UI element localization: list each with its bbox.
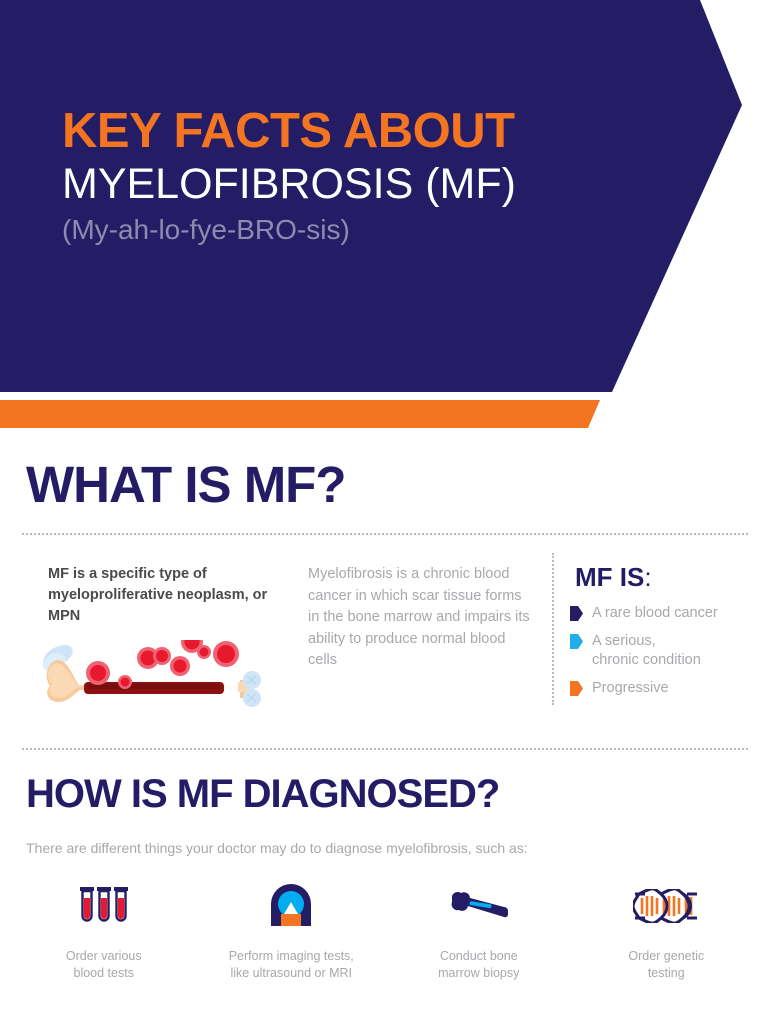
dna-helix-icon xyxy=(633,889,699,923)
diagnostic-item-caption: Order various blood tests xyxy=(66,948,142,982)
header-banner: KEY FACTS ABOUT MYELOFIBROSIS (MF) (My-a… xyxy=(0,0,770,392)
page-title-pronunciation: (My-ah-lo-fye-BRO-sis) xyxy=(62,210,516,250)
diagnostic-item-caption: Perform imaging tests, like ultrasound o… xyxy=(229,948,354,982)
mf-is-item-label: A serious, chronic condition xyxy=(592,632,701,670)
what-is-mf-bold-caption: MF is a specific type of myeloproliferat… xyxy=(48,564,278,627)
mf-is-item-label: A rare blood cancer xyxy=(592,604,718,623)
mf-is-list: A rare blood cancer A serious, chronic c… xyxy=(570,604,765,707)
test-tubes-icon xyxy=(78,885,130,927)
diagnostic-item-genetic: Order genetic testing xyxy=(573,878,761,982)
list-item: Progressive xyxy=(570,679,765,698)
section-title-how-diagnosed: HOW IS MF DIAGNOSED? xyxy=(26,772,499,817)
icon-wrapper xyxy=(633,878,699,934)
mf-is-heading-colon: : xyxy=(644,562,651,592)
diagnostic-methods-grid: Order various blood tests Perform imagin… xyxy=(10,878,760,982)
pennant-marker-icon xyxy=(570,681,583,696)
mri-scanner-icon xyxy=(268,884,314,928)
icon-wrapper xyxy=(268,878,314,934)
list-item: A rare blood cancer xyxy=(570,604,765,623)
diagnostic-item-caption: Conduct bone marrow biopsy xyxy=(438,948,519,982)
diagnostic-item-imaging: Perform imaging tests, like ultrasound o… xyxy=(198,878,386,982)
how-diagnosed-subtitle: There are different things your doctor m… xyxy=(26,840,726,856)
pennant-marker-icon xyxy=(570,606,583,621)
what-is-mf-paragraph: Myelofibrosis is a chronic blood cancer … xyxy=(308,564,533,672)
pennant-marker-icon xyxy=(570,634,583,649)
list-item: A serious, chronic condition xyxy=(570,632,765,670)
diagnostic-item-blood-tests: Order various blood tests xyxy=(10,878,198,982)
page-title-accent: KEY FACTS ABOUT xyxy=(62,104,516,158)
bone-with-blood-cells-illustration xyxy=(40,640,280,720)
mf-is-heading-text: MF IS xyxy=(575,562,644,592)
bone-icon xyxy=(448,890,510,922)
page-title-main: MYELOFIBROSIS (MF) xyxy=(62,158,516,210)
header-title-block: KEY FACTS ABOUT MYELOFIBROSIS (MF) (My-a… xyxy=(62,104,516,250)
bone-marrow-channel xyxy=(84,682,224,694)
icon-wrapper xyxy=(448,878,510,934)
diagnostic-item-caption: Order genetic testing xyxy=(628,948,704,982)
diagnostic-item-biopsy: Conduct bone marrow biopsy xyxy=(385,878,573,982)
section-title-what-is-mf: WHAT IS MF? xyxy=(26,455,345,514)
divider-vertical xyxy=(552,553,554,705)
mf-is-item-label: Progressive xyxy=(592,679,669,698)
blood-cells-group xyxy=(86,640,239,689)
divider-top xyxy=(22,533,748,535)
divider-middle xyxy=(22,748,748,750)
orange-accent-bar xyxy=(0,400,770,428)
icon-wrapper xyxy=(78,878,130,934)
mf-is-heading: MF IS: xyxy=(575,562,652,593)
